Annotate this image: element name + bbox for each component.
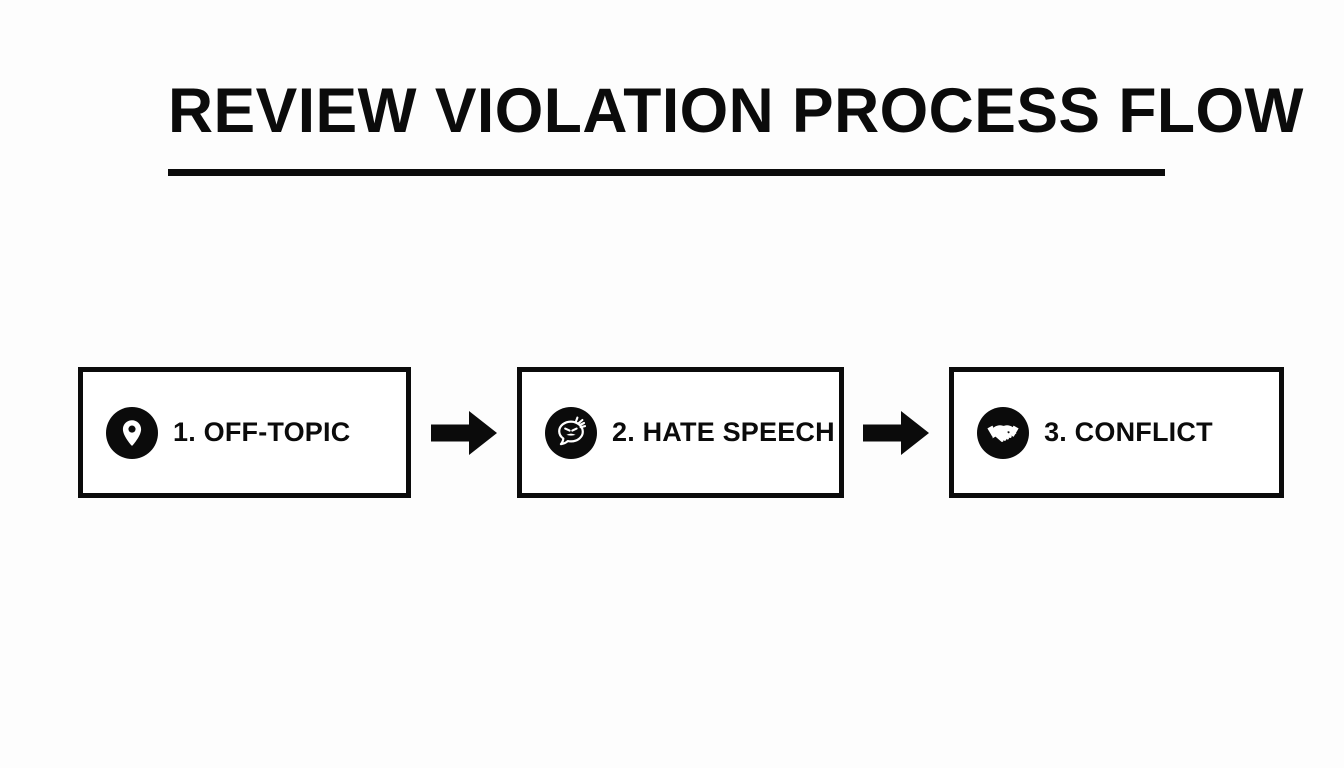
process-step-off-topic[interactable]: 1. OFF-TOPIC xyxy=(78,367,411,498)
process-step-label: 1. OFF-TOPIC xyxy=(173,417,350,448)
map-pin-icon xyxy=(106,407,158,459)
process-flow-row: 1. OFF-TOPIC 2. HATE SPEECH xyxy=(78,367,1284,498)
arrow-right-icon xyxy=(860,403,932,463)
arrow-right-icon xyxy=(428,403,500,463)
angry-speech-bubble-icon xyxy=(545,407,597,459)
title-underline-rule xyxy=(168,169,1165,176)
process-step-conflict[interactable]: 3. CONFLICT xyxy=(949,367,1284,498)
process-step-label: 2. HATE SPEECH xyxy=(612,417,835,448)
title-block: REVIEW VIOLATION PROCESS FLOW xyxy=(168,76,1168,176)
process-step-label: 3. CONFLICT xyxy=(1044,417,1213,448)
process-step-hate-speech[interactable]: 2. HATE SPEECH xyxy=(517,367,844,498)
page-title: REVIEW VIOLATION PROCESS FLOW xyxy=(168,76,1158,146)
handshake-icon xyxy=(977,407,1029,459)
